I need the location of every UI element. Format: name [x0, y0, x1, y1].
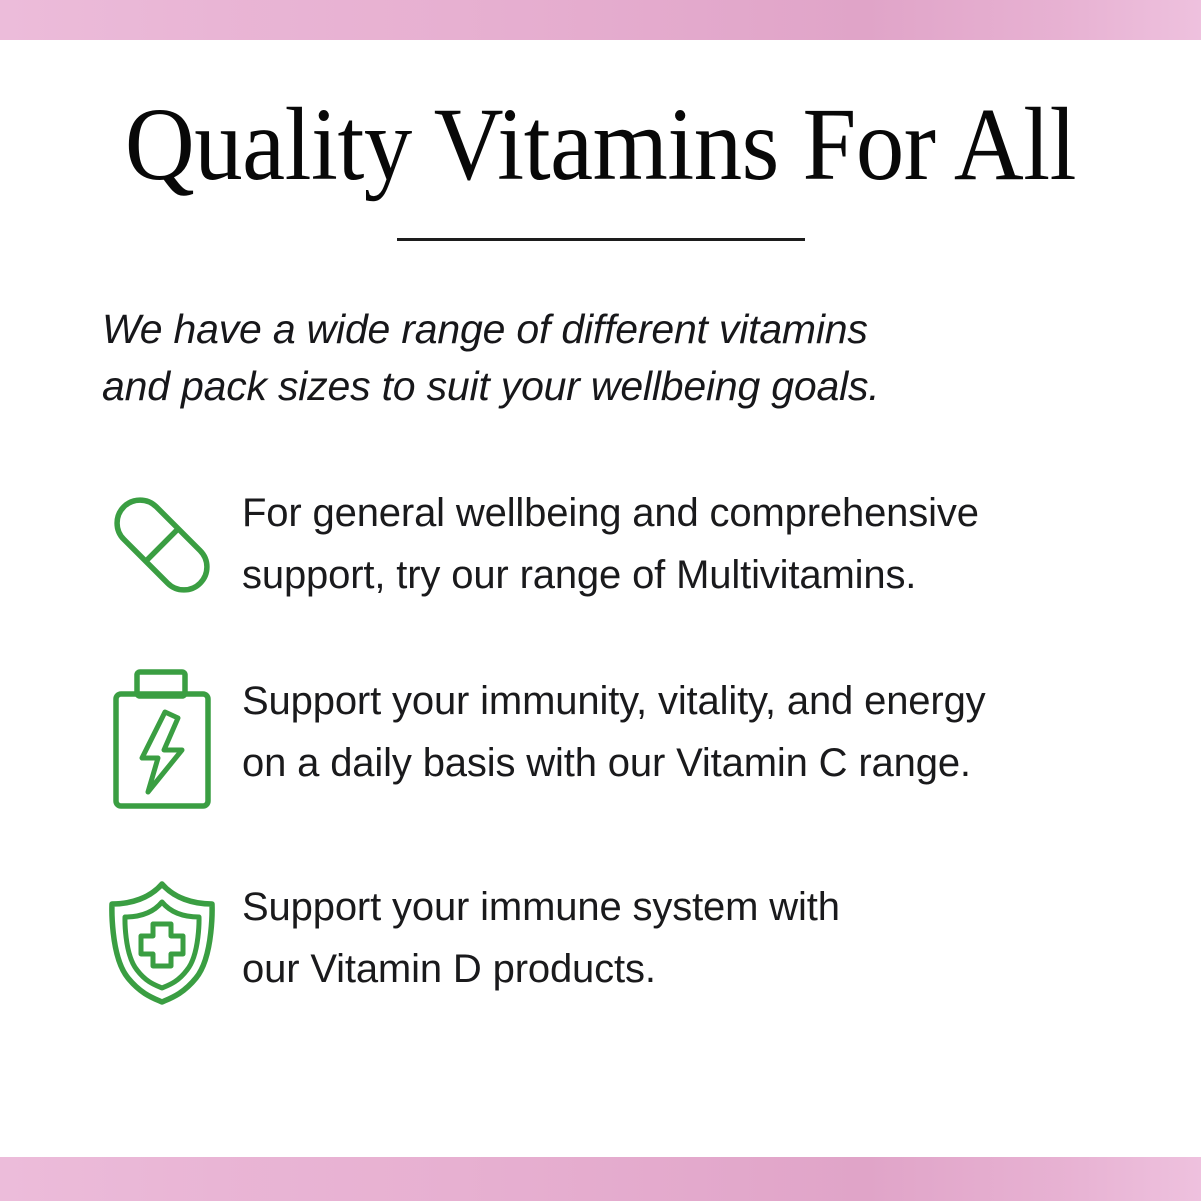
promo-card: Quality Vitamins For All We have a wide …: [0, 0, 1201, 1201]
feature-line-2: support, try our range of Multivitamins.: [242, 544, 1141, 606]
list-item: Support your immunity, vitality, and ene…: [82, 664, 1141, 814]
feature-line-1: For general wellbeing and comprehensive: [242, 482, 1141, 544]
feature-line-2: on a daily basis with our Vitamin C rang…: [242, 732, 1141, 794]
capsule-pill-icon: [82, 482, 242, 608]
bottom-decorative-band: [0, 1157, 1201, 1201]
feature-line-1: Support your immunity, vitality, and ene…: [242, 670, 1141, 732]
feature-text: For general wellbeing and comprehensive …: [242, 476, 1141, 606]
subtitle-line-1: We have a wide range of different vitami…: [102, 301, 1141, 358]
feature-line-1: Support your immune system with: [242, 876, 1141, 938]
feature-text: Support your immune system with our Vita…: [242, 870, 1141, 1000]
feature-line-2: our Vitamin D products.: [242, 938, 1141, 1000]
top-decorative-band: [0, 0, 1201, 40]
shield-cross-icon: [82, 872, 242, 1006]
page-title: Quality Vitamins For All: [98, 40, 1103, 198]
card-content: Quality Vitamins For All We have a wide …: [0, 40, 1201, 1157]
title-divider: [397, 238, 805, 241]
subtitle-line-2: and pack sizes to suit your wellbeing go…: [102, 358, 1141, 415]
title-divider-wrap: [60, 238, 1141, 241]
feature-list: For general wellbeing and comprehensive …: [60, 476, 1141, 1006]
feature-text: Support your immunity, vitality, and ene…: [242, 664, 1141, 794]
list-item: Support your immune system with our Vita…: [82, 870, 1141, 1006]
subtitle: We have a wide range of different vitami…: [60, 301, 1141, 414]
list-item: For general wellbeing and comprehensive …: [82, 476, 1141, 608]
battery-bolt-icon: [82, 664, 242, 814]
